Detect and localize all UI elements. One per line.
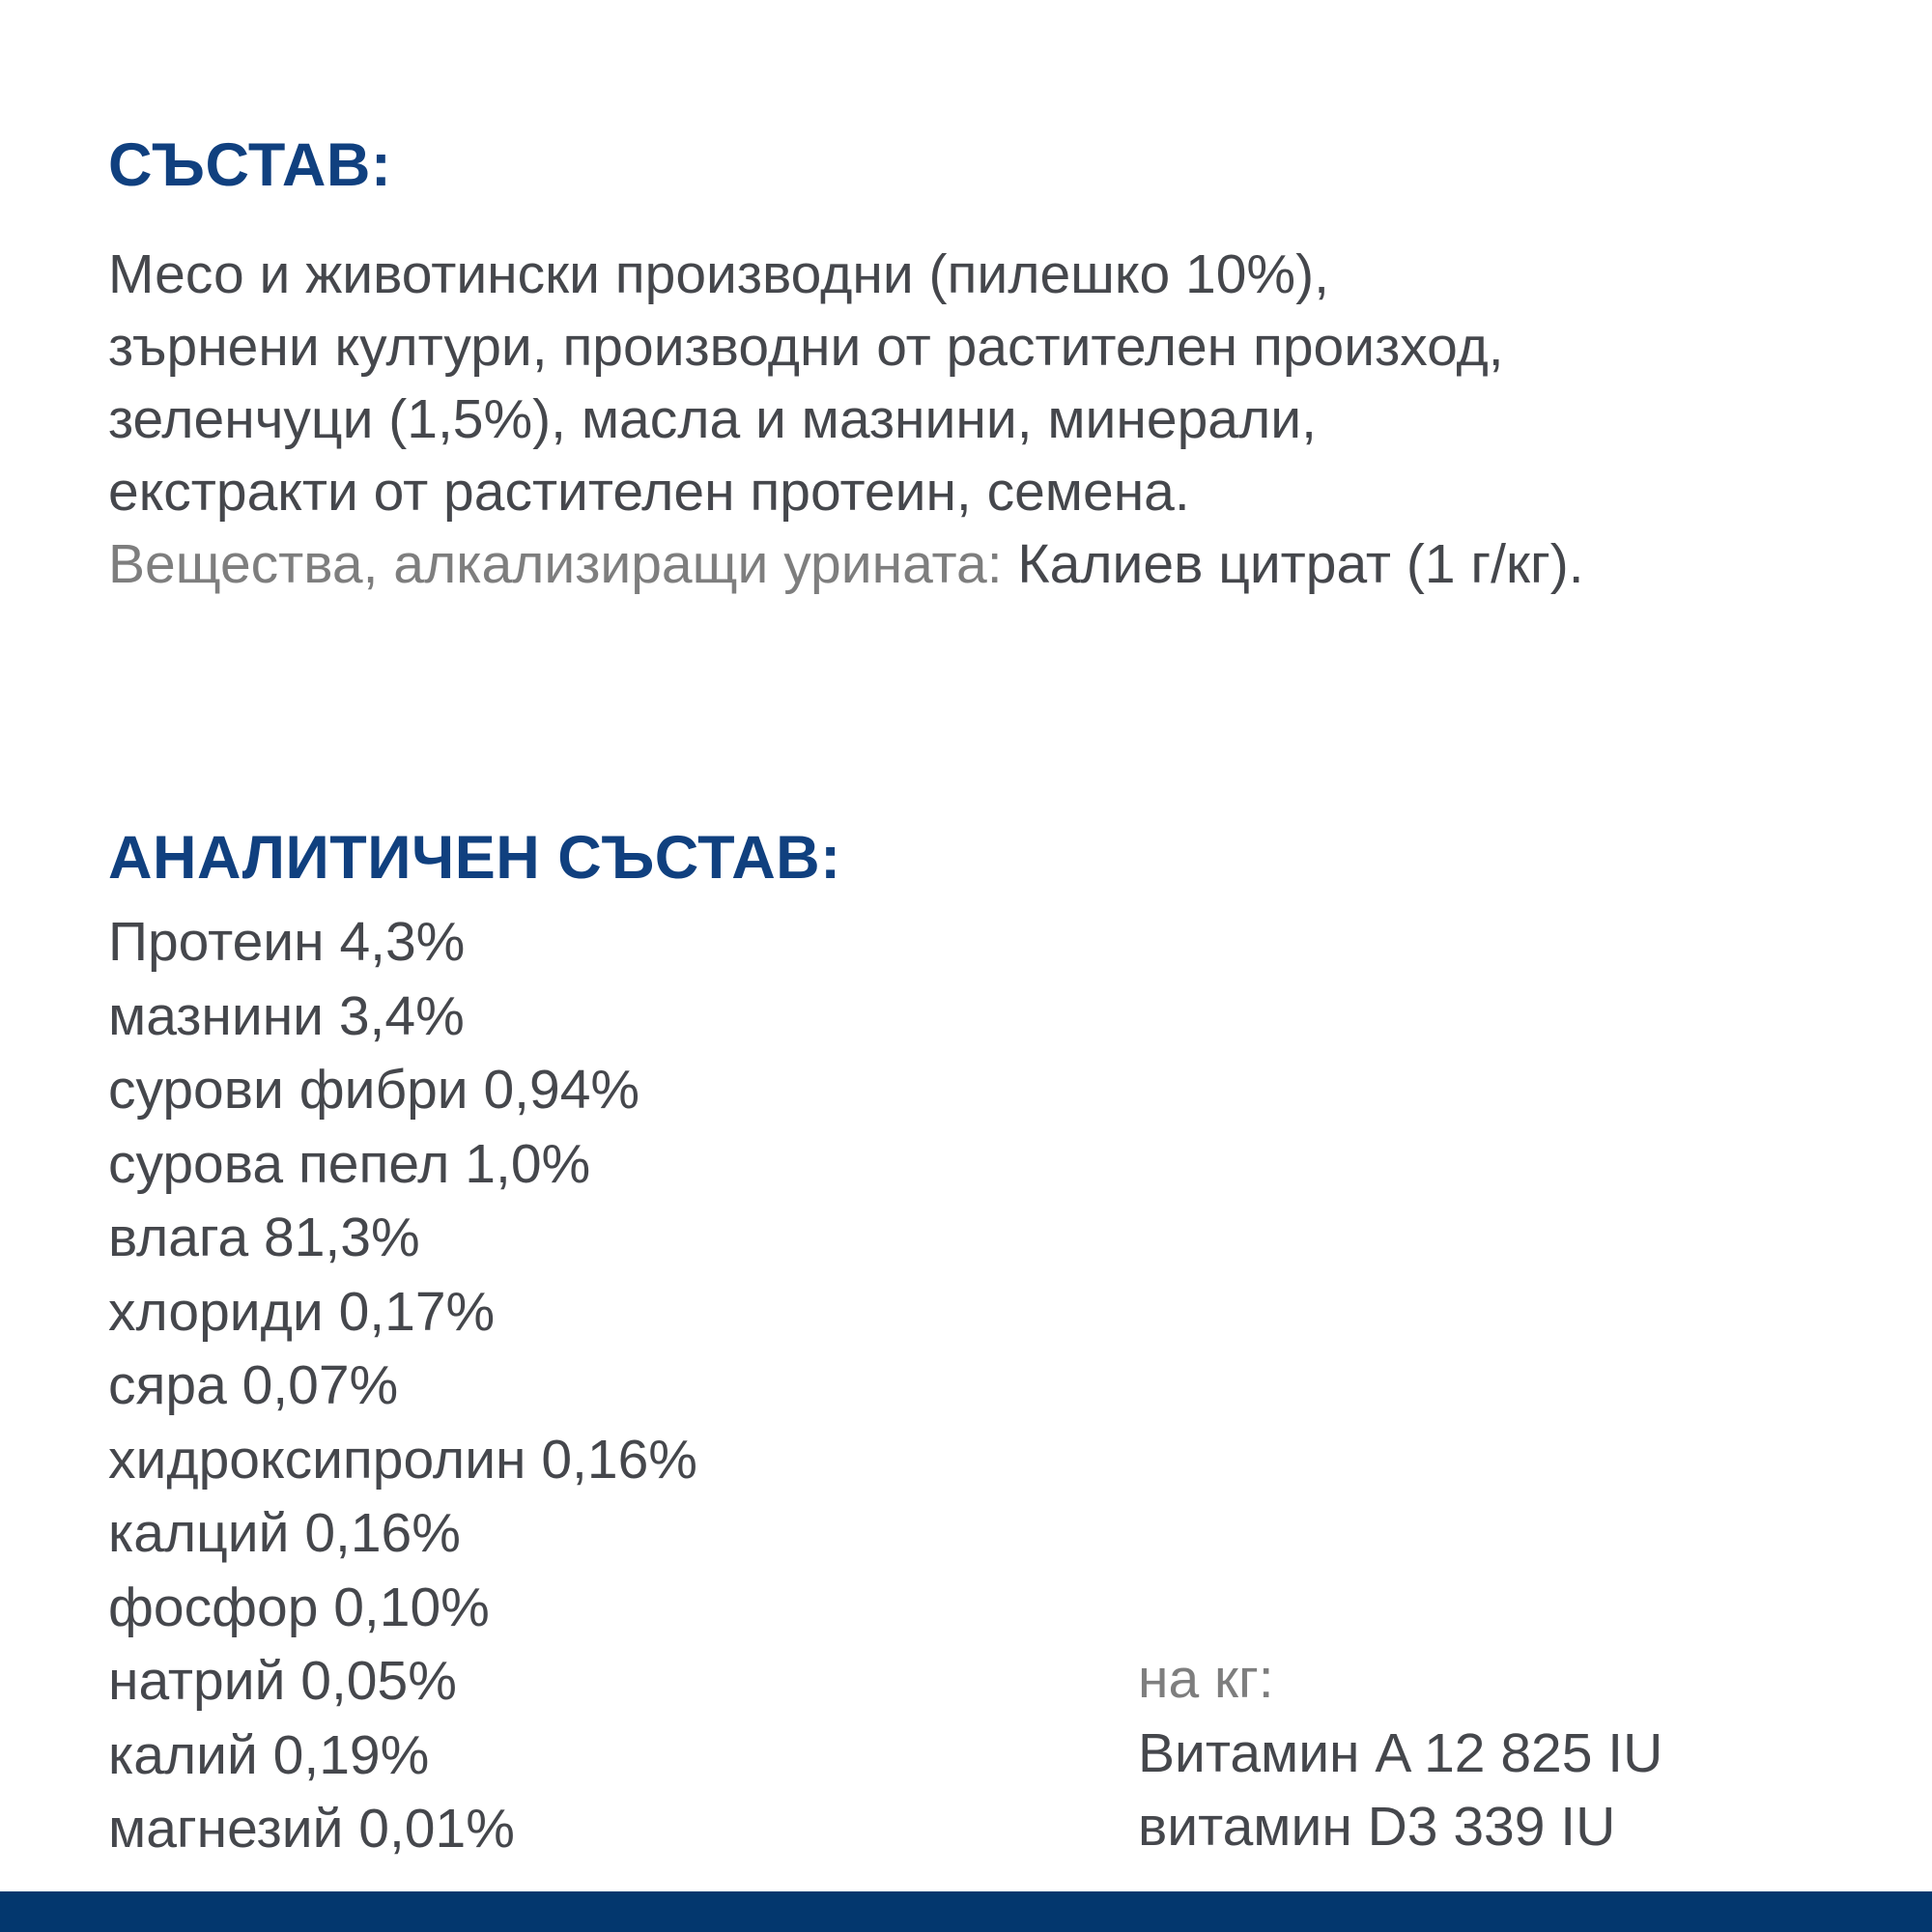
bottom-accent-bar (0, 1891, 1932, 1932)
composition-heading: СЪСТАВ: (108, 135, 391, 196)
nutrient-row: магнезий 0,01% (108, 1792, 1074, 1866)
composition-line: Месо и животински производни (пилешко 10… (108, 239, 1866, 311)
nutrient-row: Протеин 4,3% (108, 905, 1074, 980)
nutrient-row: влага 81,3% (108, 1201, 1074, 1275)
composition-line: зеленчуци (1,5%), масла и мазнини, минер… (108, 384, 1866, 456)
nutrient-row: мазнини 3,4% (108, 980, 1074, 1054)
analytical-constituents-list: Протеин 4,3% мазнини 3,4% сурови фибри 0… (108, 905, 1074, 1866)
nutrient-row: калций 0,16% (108, 1496, 1074, 1571)
product-label-page: СЪСТАВ: Месо и животински производни (пи… (0, 0, 1932, 1932)
nutrient-row: фосфор 0,10% (108, 1571, 1074, 1645)
composition-line: екстракти от растителен протеин, семена. (108, 456, 1866, 528)
vitamin-row: витамин D3 339 IU (1138, 1790, 1891, 1864)
composition-line: зърнени култури, производни от растителе… (108, 311, 1866, 384)
composition-paragraph: Месо и животински производни (пилешко 10… (108, 239, 1866, 601)
nutrient-row: сурови фибри 0,94% (108, 1053, 1074, 1127)
nutrient-row: натрий 0,05% (108, 1644, 1074, 1719)
nutrient-row: хлориди 0,17% (108, 1275, 1074, 1350)
analytical-composition-heading: АНАЛИТИЧЕН СЪСТАВ: (108, 828, 841, 889)
alkalinising-urine-value: Калиев цитрат (1 г/кг). (1003, 533, 1584, 595)
nutrient-row: калий 0,19% (108, 1719, 1074, 1793)
alkalinising-urine-label: Вещества, алкализиращи урината: (108, 533, 1003, 595)
vitamin-row: Витамин A 12 825 IU (1138, 1717, 1891, 1791)
per-kilogram-label: на кг: (1138, 1642, 1891, 1717)
alkalinising-urine-line: Вещества, алкализиращи урината: Калиев ц… (108, 528, 1866, 601)
nutrient-row: сяра 0,07% (108, 1349, 1074, 1423)
vitamins-per-kg-block: на кг: Витамин A 12 825 IU витамин D3 33… (1138, 1642, 1891, 1864)
nutrient-row: хидроксипролин 0,16% (108, 1423, 1074, 1497)
nutrient-row: сурова пепел 1,0% (108, 1127, 1074, 1202)
